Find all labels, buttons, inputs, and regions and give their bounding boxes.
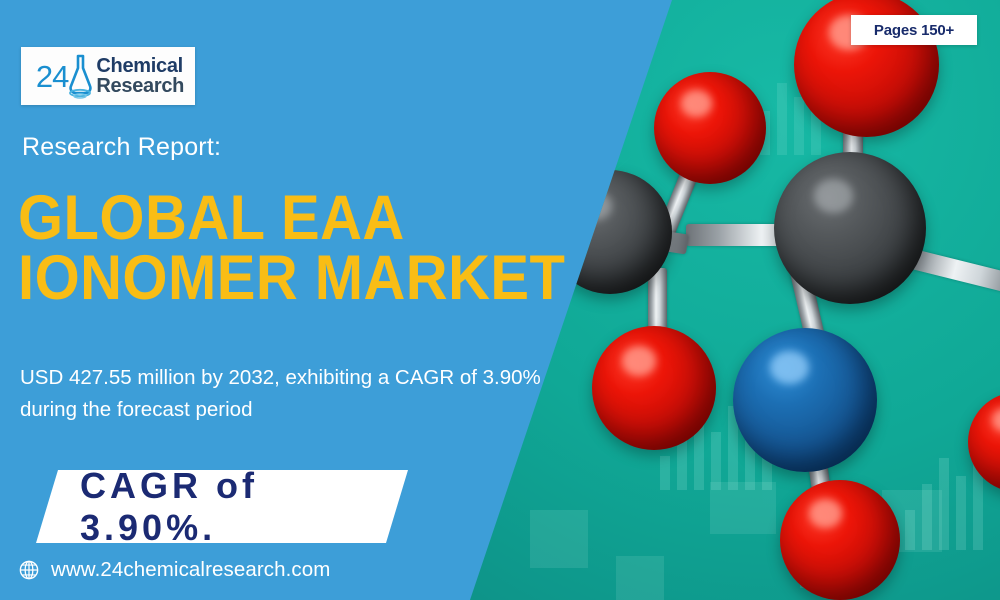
logo-word-chemical: Chemical <box>96 56 184 76</box>
page-title: GLOBAL EAA IONOMER MARKET <box>18 188 570 309</box>
company-logo[interactable]: 24 Chemical Research <box>21 47 195 105</box>
cagr-badge: CAGR of 3.90%. <box>36 470 408 543</box>
atom-oxygen-bottom <box>780 480 900 600</box>
logo-number: 24 <box>36 61 68 92</box>
atom-nitrogen-center <box>733 328 877 472</box>
atom-carbon-right <box>774 152 926 304</box>
website-url[interactable]: www.24chemicalresearch.com <box>51 558 330 582</box>
pages-badge: Pages 150+ <box>851 15 977 45</box>
cagr-badge-label: CAGR of 3.90%. <box>80 465 408 549</box>
report-kicker: Research Report: <box>22 133 221 162</box>
footer-website[interactable]: www.24chemicalresearch.com <box>18 558 330 582</box>
flask-icon <box>67 53 93 99</box>
atom-oxygen-lower-left <box>592 326 716 450</box>
report-cover: 24 Chemical Research Research Report: GL… <box>0 0 1000 600</box>
report-subtitle: USD 427.55 million by 2032, exhibiting a… <box>20 362 550 426</box>
pages-badge-label: Pages 150+ <box>874 22 954 39</box>
globe-icon <box>18 559 40 581</box>
logo-word-research: Research <box>96 76 184 96</box>
dark-corner-shade <box>0 270 420 600</box>
atom-oxygen-upper-left <box>654 72 766 184</box>
atom-oxygen-far-right <box>968 392 1000 492</box>
